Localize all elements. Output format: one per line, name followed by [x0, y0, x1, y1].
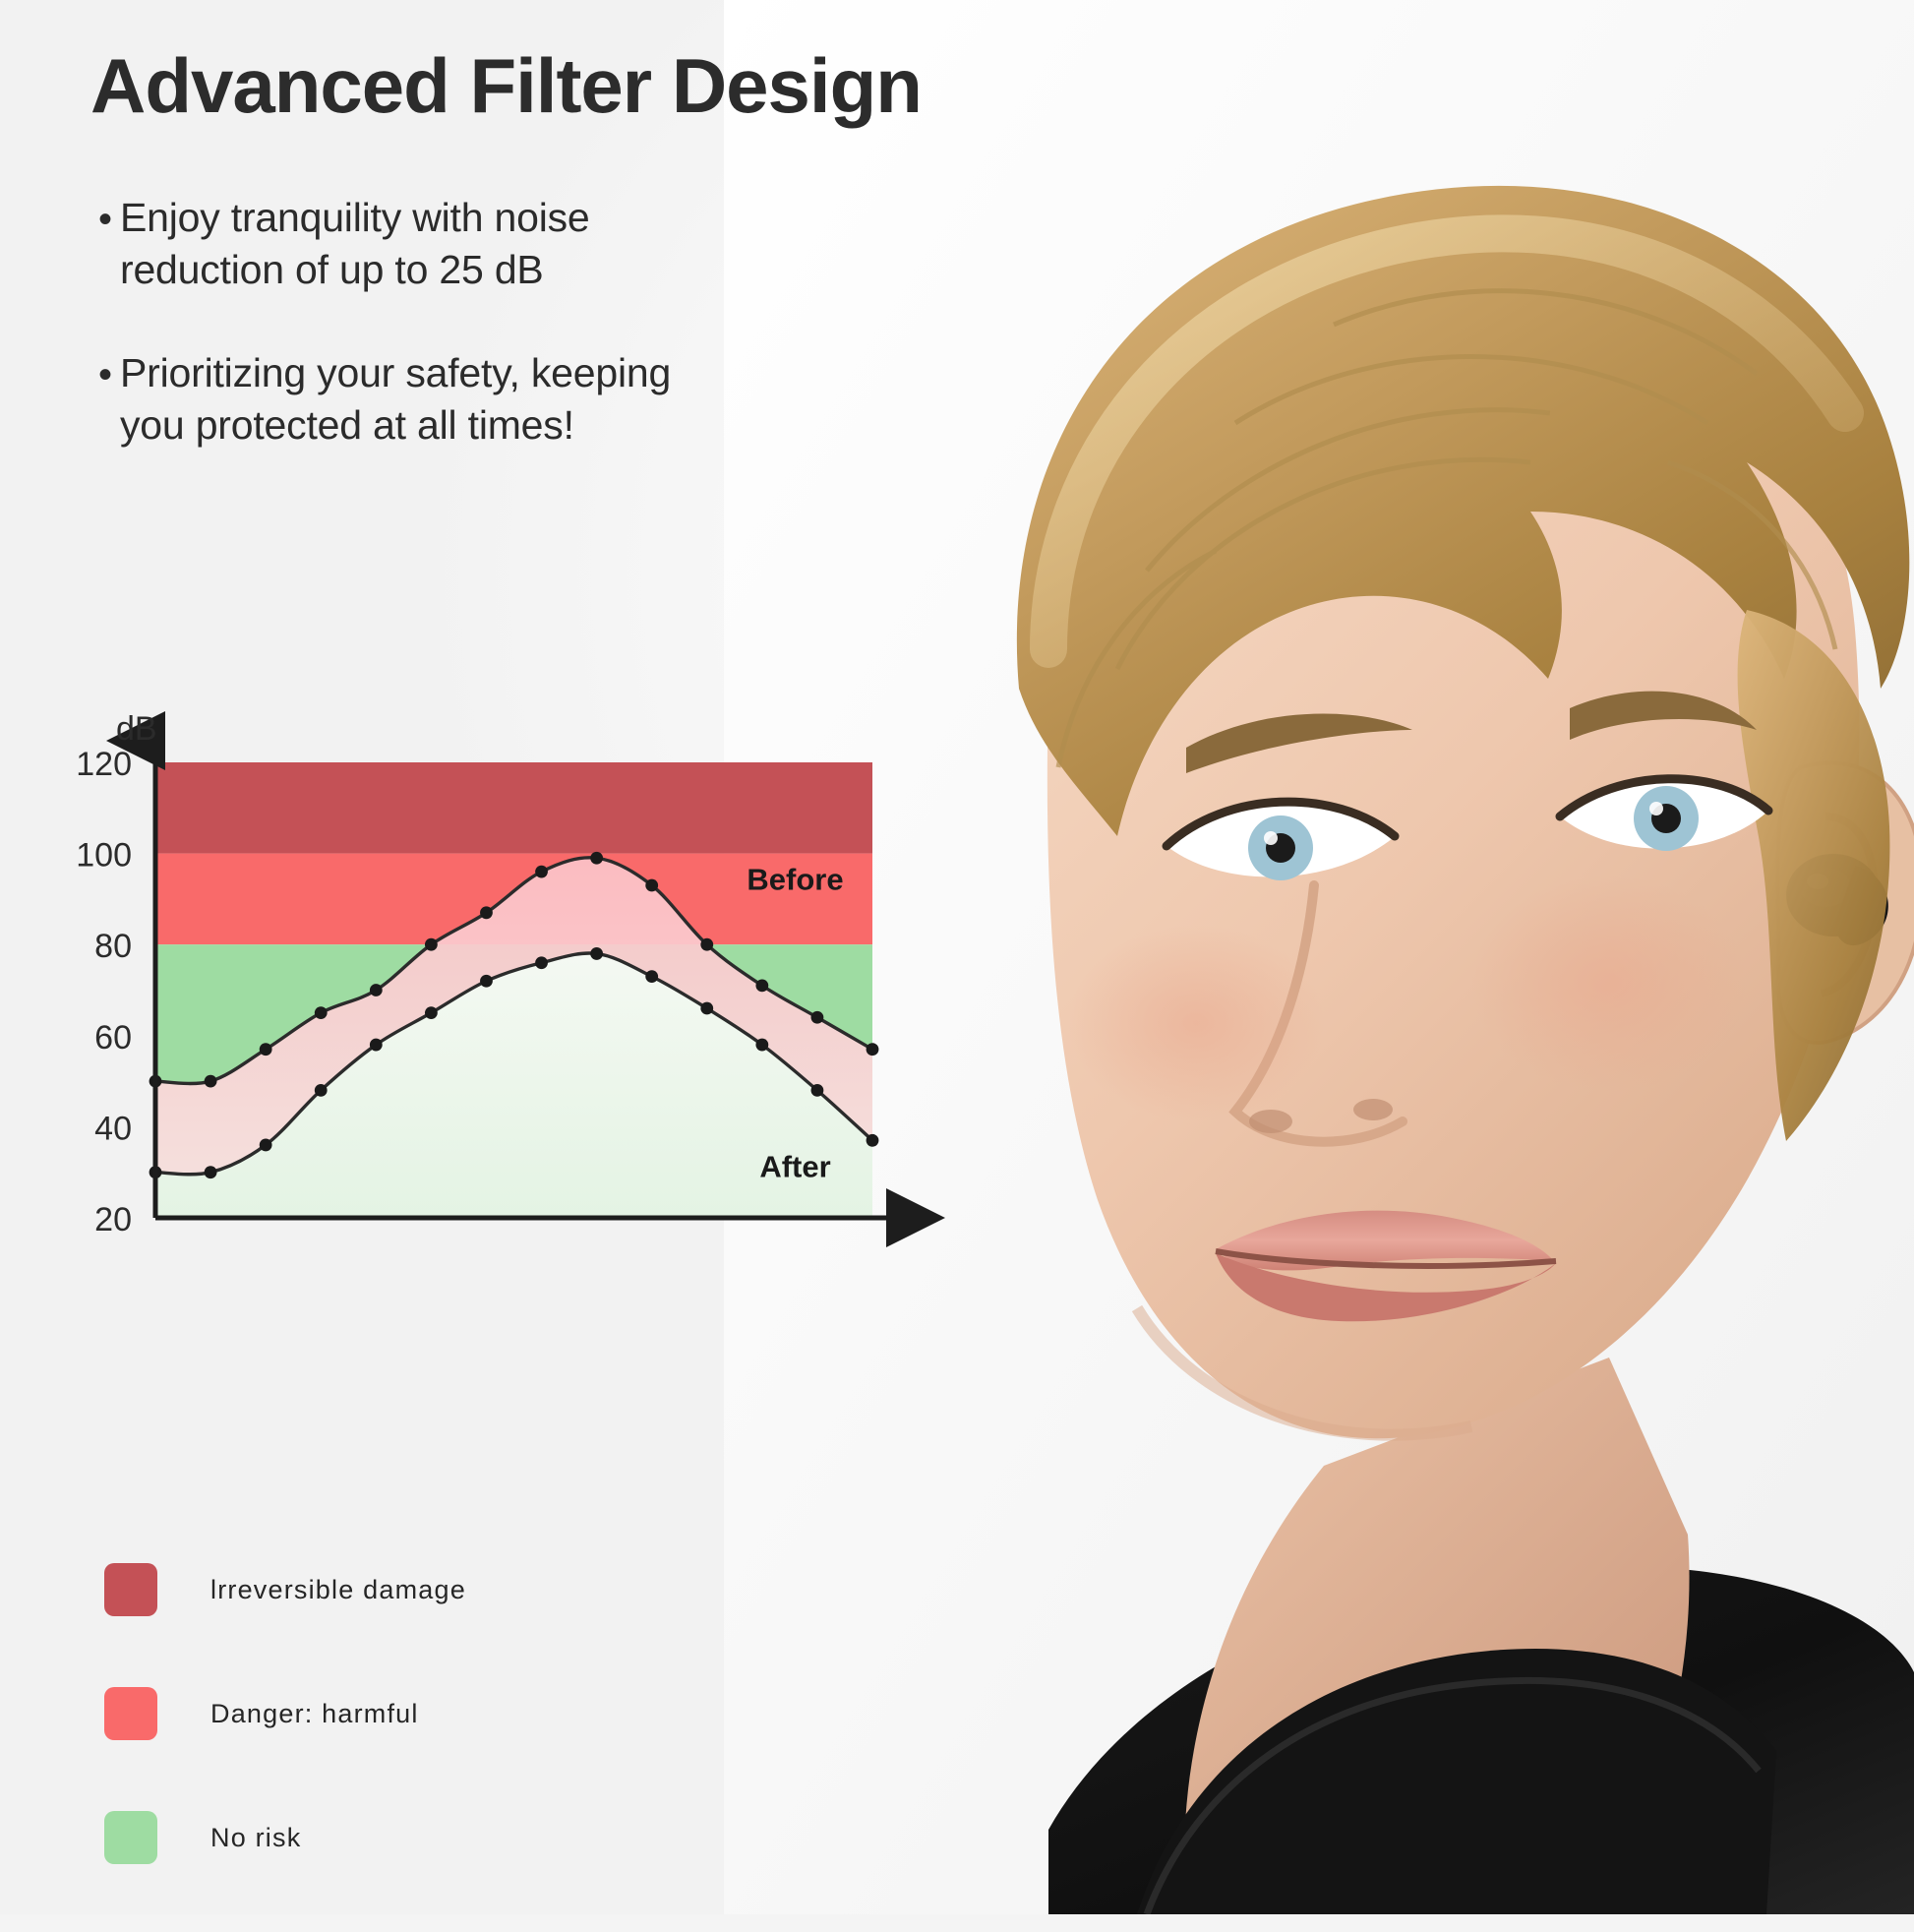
data-point — [645, 970, 658, 983]
nostril-right — [1353, 1099, 1393, 1120]
data-point — [260, 1139, 272, 1152]
data-point — [425, 1006, 438, 1019]
y-tick-label: 80 — [94, 928, 132, 965]
data-point — [205, 1166, 217, 1178]
data-point — [755, 979, 768, 992]
data-point — [480, 975, 493, 988]
list-item-label: Enjoy tranquility with noise reduction o… — [120, 192, 724, 296]
data-point — [867, 1043, 879, 1056]
data-point — [590, 852, 603, 865]
legend-swatch-irreversible-damage — [104, 1563, 157, 1616]
y-tick-label: 100 — [76, 837, 132, 875]
data-point — [645, 879, 658, 892]
data-point — [590, 947, 603, 960]
chart-legend: lrreversible damage Danger: harmful No r… — [104, 1560, 655, 1932]
data-point — [867, 1134, 879, 1147]
noise-reduction-chart: 20406080100120 BeforeAfter dB — [0, 679, 984, 1564]
data-point — [535, 956, 548, 969]
legend-item: No risk — [104, 1808, 655, 1867]
data-point — [205, 1075, 217, 1088]
data-point — [755, 1039, 768, 1052]
bullet-marker-icon: • — [94, 347, 120, 452]
data-point — [535, 866, 548, 878]
page-title: Advanced Filter Design — [90, 44, 922, 127]
cheek-right — [1471, 875, 1747, 1092]
nostril-left — [1249, 1110, 1292, 1133]
y-tick-label: 40 — [94, 1110, 132, 1147]
series-annotation-before: Before — [747, 863, 843, 897]
data-point — [811, 1084, 824, 1097]
data-point — [700, 1002, 713, 1015]
y-tick-label: 20 — [94, 1201, 132, 1238]
data-point — [425, 938, 438, 951]
legend-label: Danger: harmful — [210, 1699, 419, 1729]
chart-canvas: 20406080100120 BeforeAfter dB — [0, 679, 984, 1564]
list-item: • Prioritizing your safety, keeping you … — [94, 347, 724, 452]
y-tick-label: 120 — [76, 746, 132, 783]
data-point — [260, 1043, 272, 1056]
list-item: • Enjoy tranquility with noise reduction… — [94, 192, 724, 296]
legend-label: No risk — [210, 1823, 301, 1853]
feature-bullet-list: • Enjoy tranquility with noise reduction… — [94, 192, 724, 503]
legend-swatch-danger-harmful — [104, 1687, 157, 1740]
data-point — [315, 1006, 328, 1019]
data-point — [315, 1084, 328, 1097]
data-point — [811, 1011, 824, 1024]
legend-item: Danger: harmful — [104, 1684, 655, 1743]
chart-unit-label: dB — [116, 710, 157, 748]
list-item-label: Prioritizing your safety, keeping you pr… — [120, 347, 724, 452]
data-point — [480, 906, 493, 919]
legend-swatch-no-risk — [104, 1811, 157, 1864]
legend-label: lrreversible damage — [210, 1575, 466, 1605]
series-annotation-after: After — [759, 1149, 830, 1183]
y-tick-label: 60 — [94, 1019, 132, 1057]
data-point — [700, 938, 713, 951]
bullet-marker-icon: • — [94, 192, 120, 296]
chart-y-tick-labels: 20406080100120 — [76, 746, 132, 1238]
legend-item: lrreversible damage — [104, 1560, 655, 1619]
data-point — [370, 984, 383, 996]
risk-band — [155, 762, 872, 854]
data-point — [370, 1039, 383, 1052]
cheek-left — [1068, 925, 1324, 1121]
